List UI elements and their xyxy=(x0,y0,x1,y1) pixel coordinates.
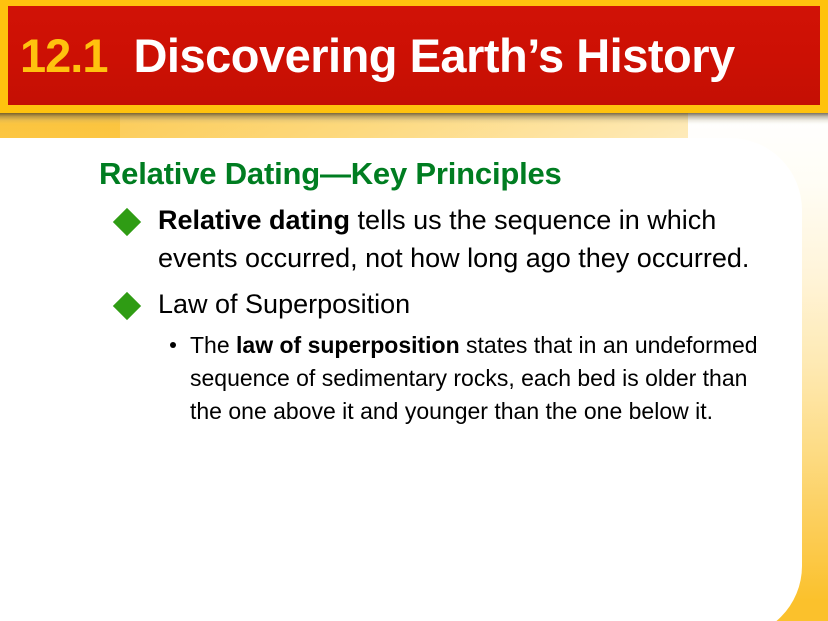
text-run: Law of Superposition xyxy=(158,289,410,319)
diamond-bullet-icon xyxy=(113,292,141,320)
section-heading: Relative Dating—Key Principles xyxy=(99,156,562,192)
slide-canvas: 12.1 Discovering Earth’s History Relativ… xyxy=(0,0,828,621)
round-bullet-icon xyxy=(170,342,176,348)
bullet-list: Relative dating tells us the sequence in… xyxy=(113,201,813,428)
text-run: The xyxy=(190,332,236,358)
bullet-text: Relative dating tells us the sequence in… xyxy=(158,205,749,273)
slide-content: Relative Dating—Key Principles Relative … xyxy=(0,138,828,621)
chapter-number: 12.1 xyxy=(20,32,107,79)
bullet-item: Relative dating tells us the sequence in… xyxy=(113,201,798,277)
bold-run: law of superposition xyxy=(236,332,460,358)
slide-header-band: 12.1 Discovering Earth’s History xyxy=(0,0,828,113)
sub-bullet-item: The law of superposition states that in … xyxy=(165,329,760,428)
bold-run: Relative dating xyxy=(158,205,350,235)
diamond-bullet-icon xyxy=(113,208,141,236)
bullet-item: Law of Superposition xyxy=(113,285,798,323)
slide-header-red-bar: 12.1 Discovering Earth’s History xyxy=(8,6,820,105)
bullet-text: Law of Superposition xyxy=(158,289,410,319)
sub-bullet-text: The law of superposition states that in … xyxy=(190,332,758,424)
slide-title: Discovering Earth’s History xyxy=(133,32,734,79)
